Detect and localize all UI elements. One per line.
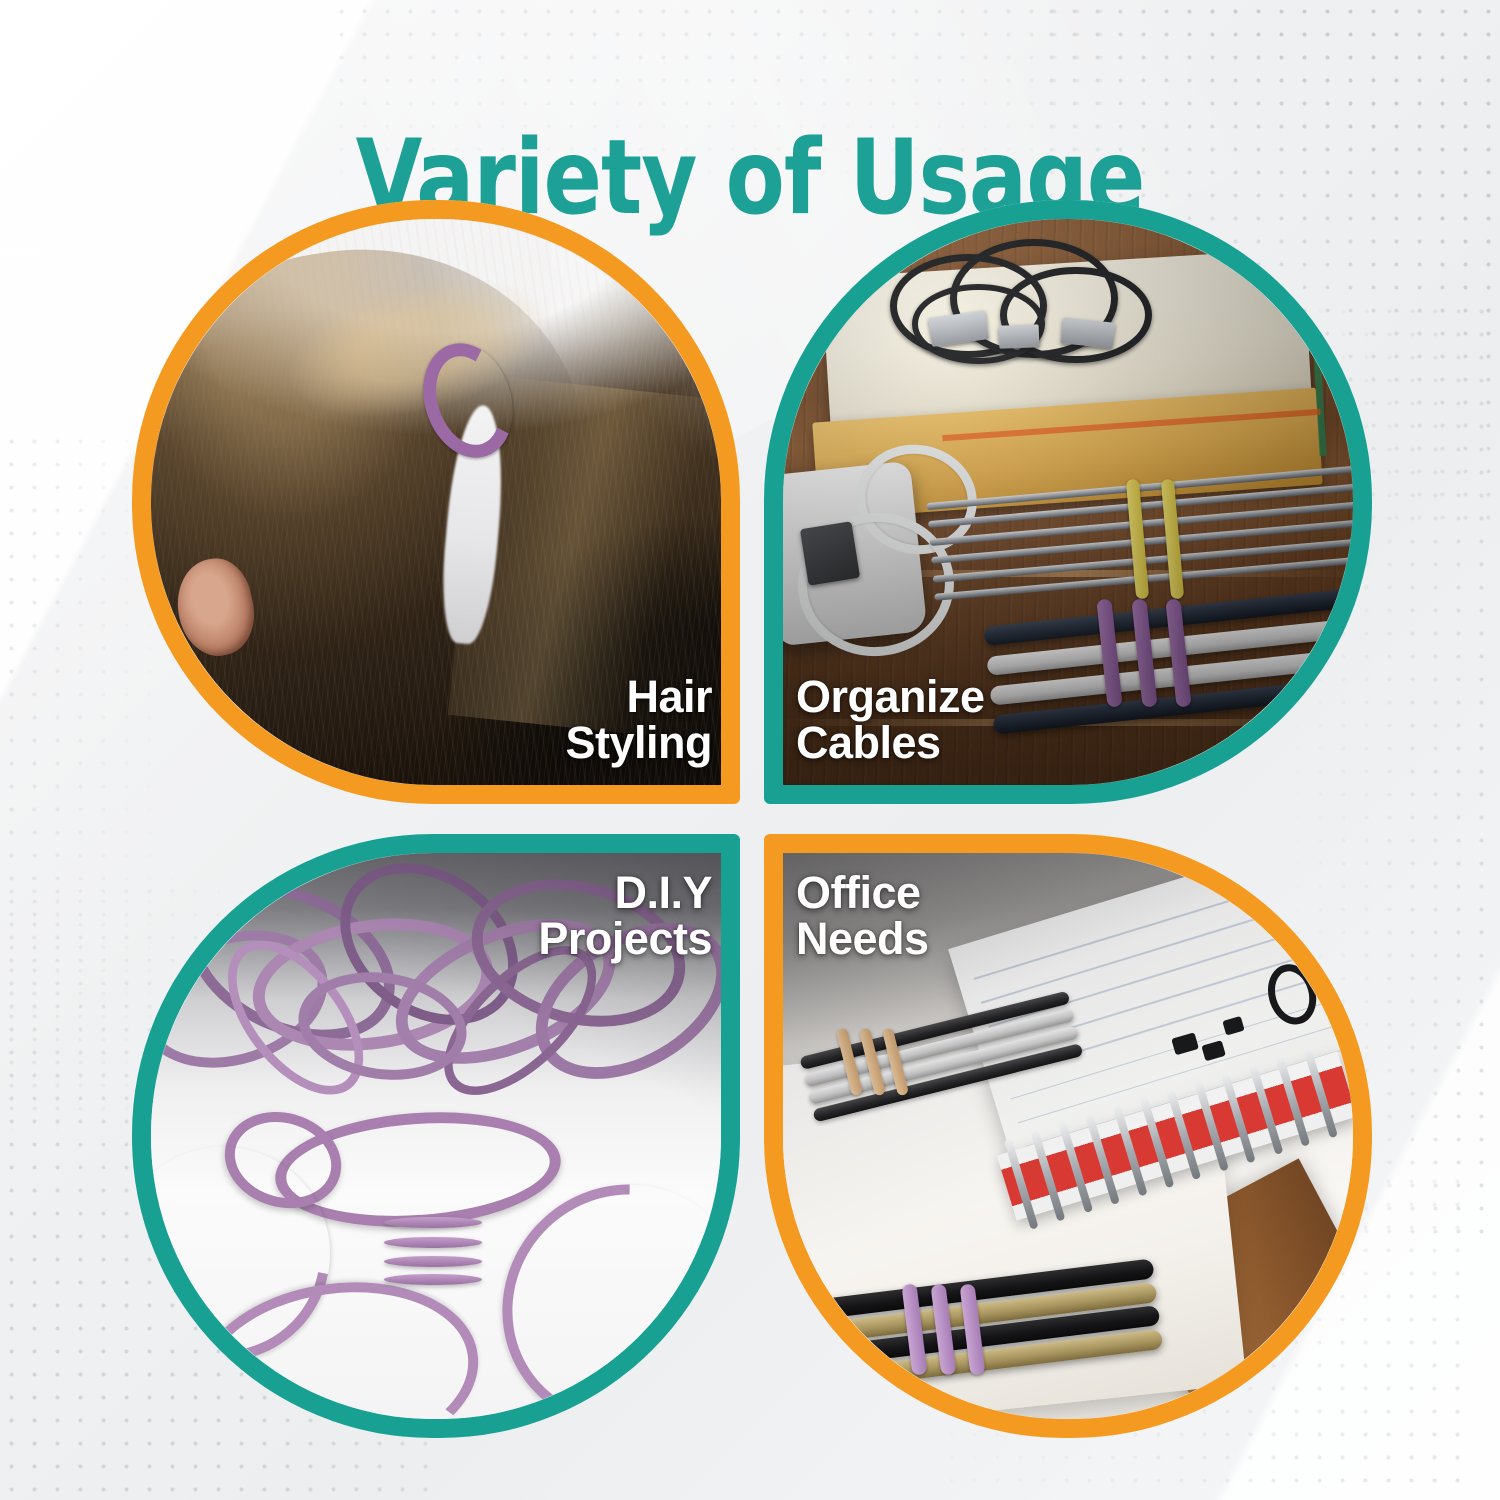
caption-line-2: Projects (538, 916, 712, 962)
panel-diy-projects[interactable]: D.I.Y Projects (132, 834, 740, 1438)
panel-office-needs[interactable]: Office Needs (764, 834, 1372, 1438)
infographic-canvas: Variety of Usage Hair Styling (0, 0, 1500, 1500)
panel-hair-styling[interactable]: Hair Styling (132, 200, 740, 804)
caption-line-1: Organize (796, 674, 985, 720)
caption-line-2: Styling (565, 720, 712, 766)
caption-line-1: Hair (565, 674, 712, 720)
caption-line-1: D.I.Y (538, 870, 712, 916)
caption-line-2: Needs (796, 916, 929, 962)
photo-light-veil (551, 219, 721, 456)
panel-organize-cables-caption: Organize Cables (796, 674, 985, 766)
panel-organize-cables[interactable]: Organize Cables (764, 200, 1372, 804)
usage-panel-grid: Hair Styling (132, 200, 1372, 1438)
panel-hair-styling-caption: Hair Styling (565, 674, 712, 766)
panel-diy-projects-caption: D.I.Y Projects (538, 870, 712, 962)
panel-office-needs-caption: Office Needs (796, 870, 929, 962)
caption-line-2: Cables (796, 720, 985, 766)
caption-line-1: Office (796, 870, 929, 916)
